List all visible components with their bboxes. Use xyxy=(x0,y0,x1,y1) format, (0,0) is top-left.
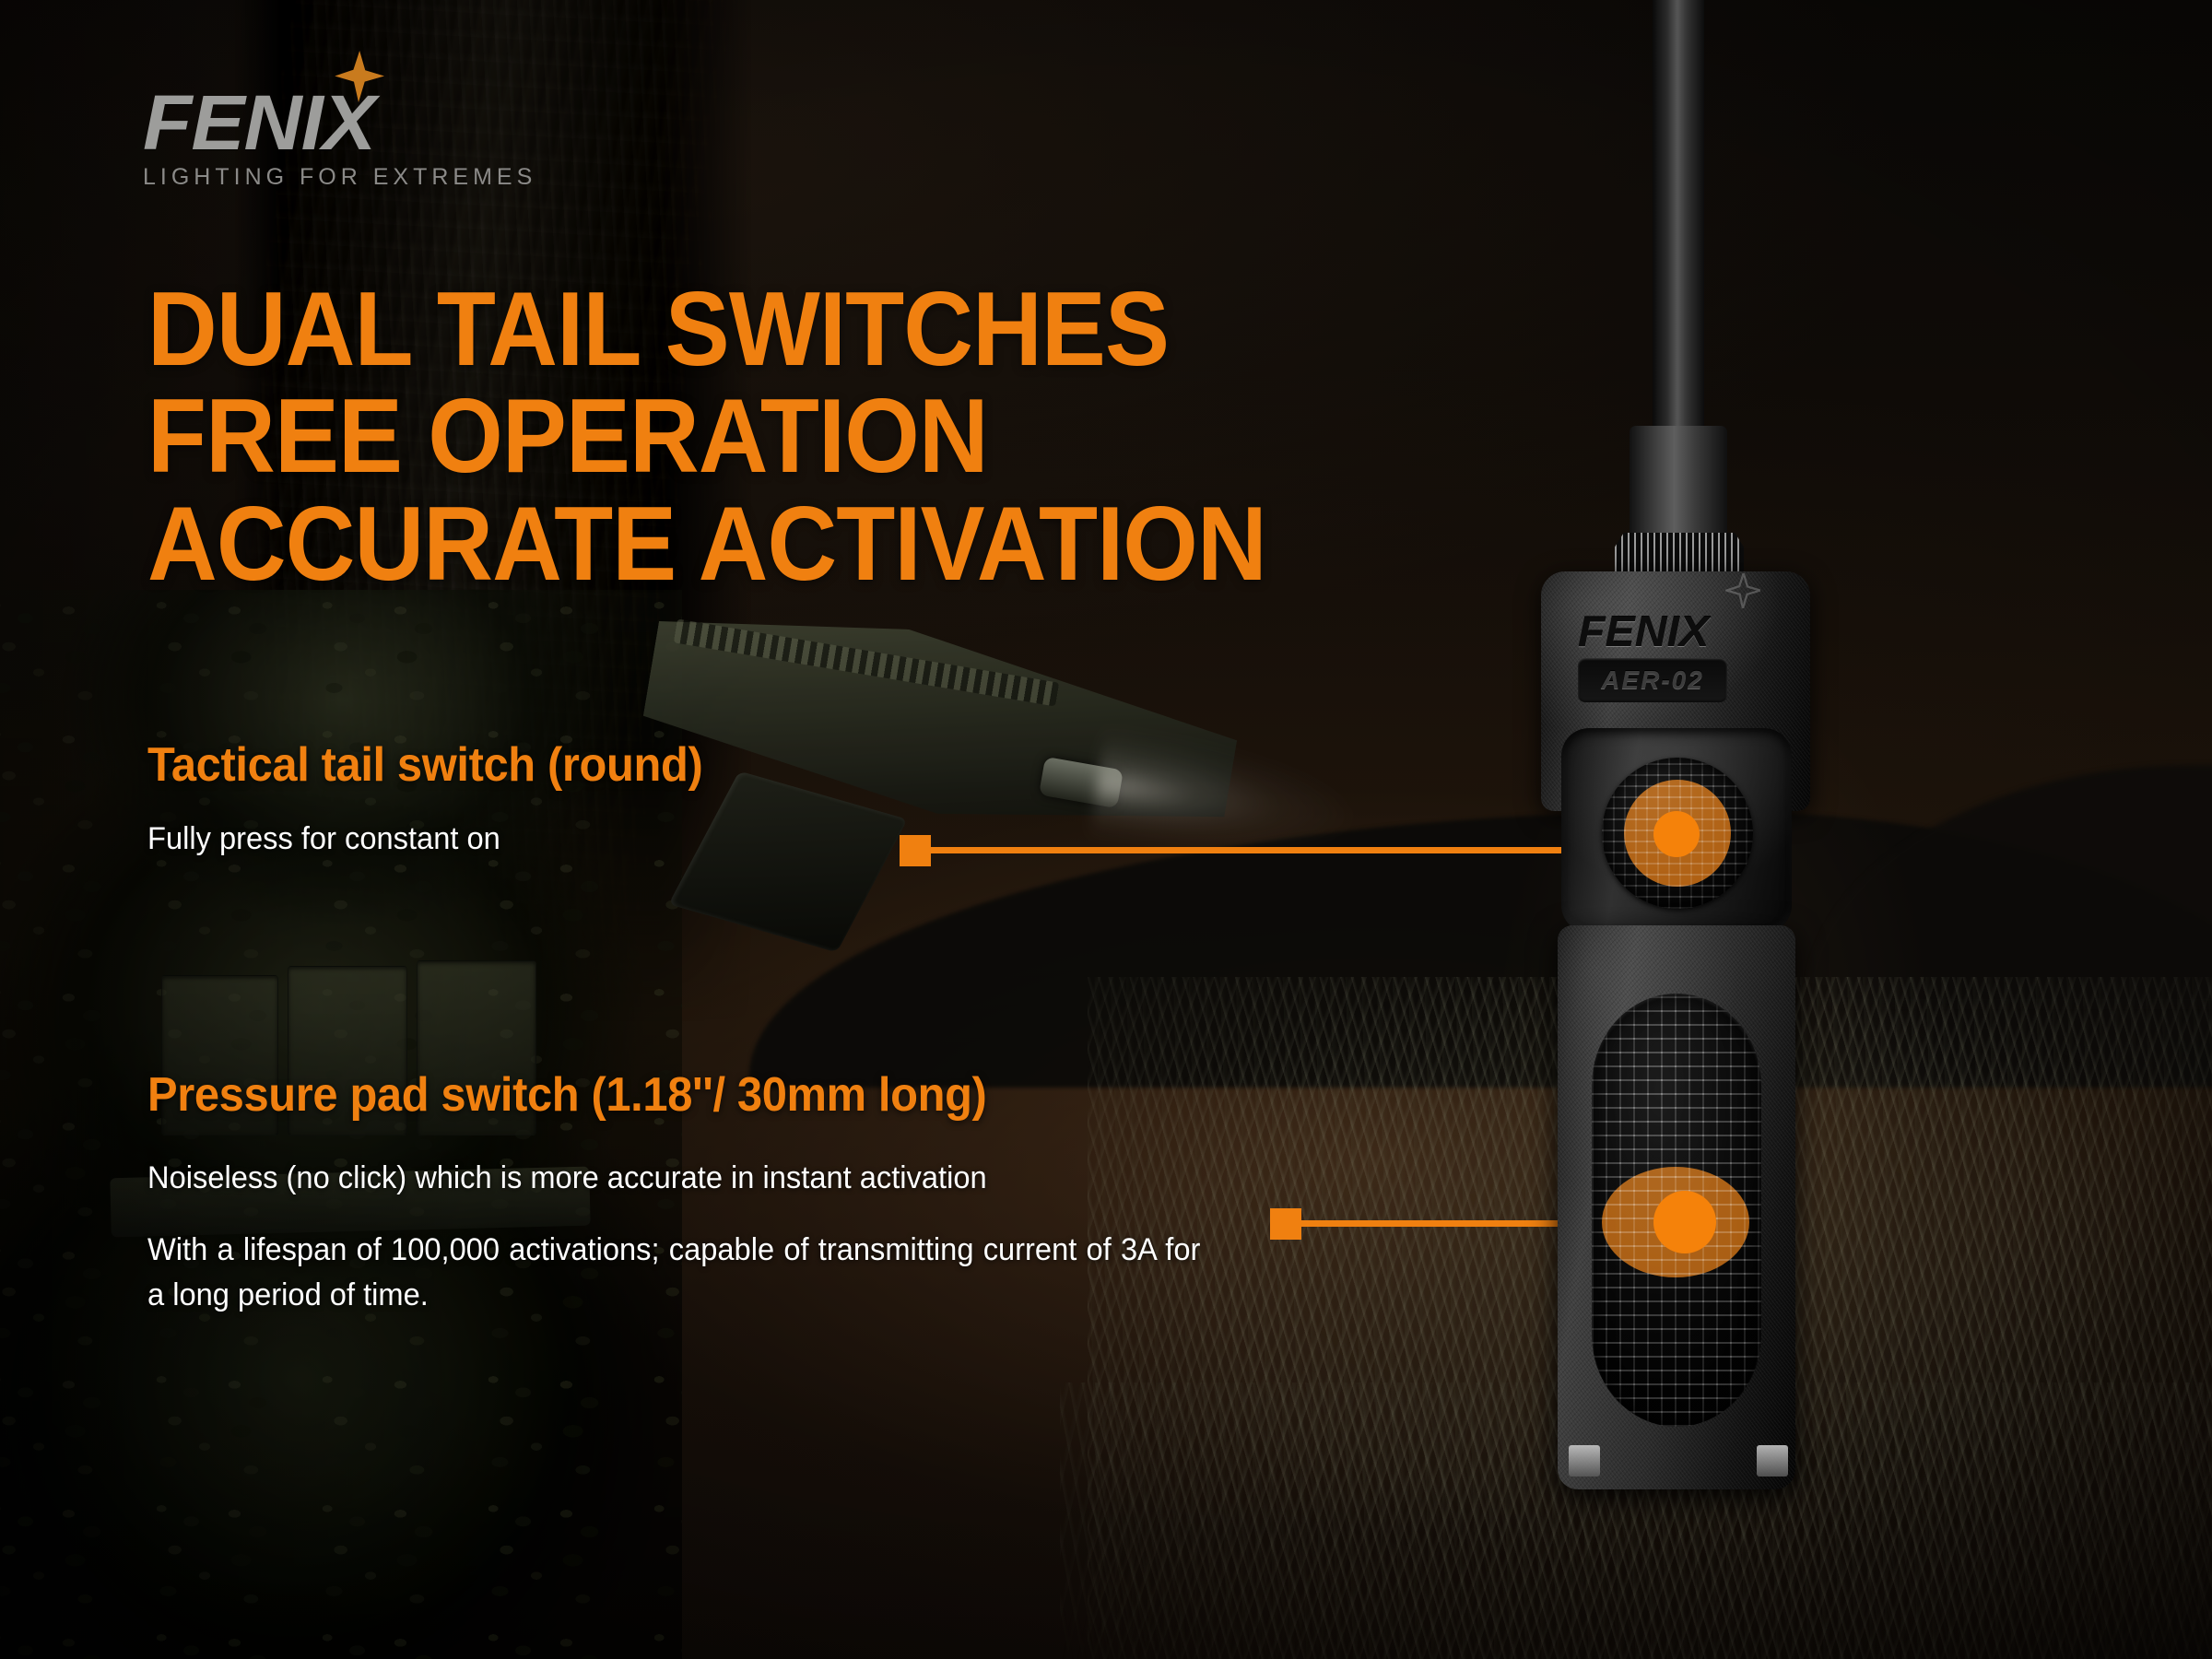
mount-foot xyxy=(1569,1445,1600,1477)
cable xyxy=(1653,0,1704,452)
callout-body-line: Noiseless (no click) which is more accur… xyxy=(147,1156,1200,1200)
brand-logo: FENIX LIGHTING FOR EXTREMES xyxy=(143,88,536,191)
callout-marker-dot-1 xyxy=(1653,811,1700,857)
callout-title: Pressure pad switch (1.18''/ 30mm long) xyxy=(147,1067,1179,1123)
strain-relief-sleeve xyxy=(1630,426,1727,536)
callout-marker-dot-2 xyxy=(1653,1191,1716,1253)
product-feature-poster: FENIX LIGHTING FOR EXTREMES DUAL TAIL SW… xyxy=(0,0,2212,1659)
model-nameplate: AER-02 xyxy=(1578,658,1727,702)
page-title: DUAL TAIL SWITCHES FREE OPERATION ACCURA… xyxy=(147,276,1266,598)
headline-line-2: FREE OPERATION xyxy=(147,383,1266,490)
callout-title: Tactical tail switch (round) xyxy=(147,737,702,793)
product-star-emboss-icon xyxy=(1725,573,1760,608)
brand-tagline: LIGHTING FOR EXTREMES xyxy=(143,164,536,191)
four-point-star-icon xyxy=(333,51,384,102)
model-name: AER-02 xyxy=(1578,658,1727,702)
headline-line-3: ACCURATE ACTIVATION xyxy=(147,491,1266,598)
callout-body-line: Fully press for constant on xyxy=(147,817,714,861)
callout-pressure-pad-switch: Pressure pad switch (1.18''/ 30mm long) … xyxy=(147,1067,1244,1317)
callout-tactical-tail-switch: Tactical tail switch (round) Fully press… xyxy=(147,737,738,861)
headline-line-1: DUAL TAIL SWITCHES xyxy=(147,276,1266,383)
product-brand-emboss: FENIX xyxy=(1578,605,1789,658)
mount-foot xyxy=(1757,1445,1788,1477)
callout-body-line: With a lifespan of 100,000 activations; … xyxy=(147,1228,1200,1317)
